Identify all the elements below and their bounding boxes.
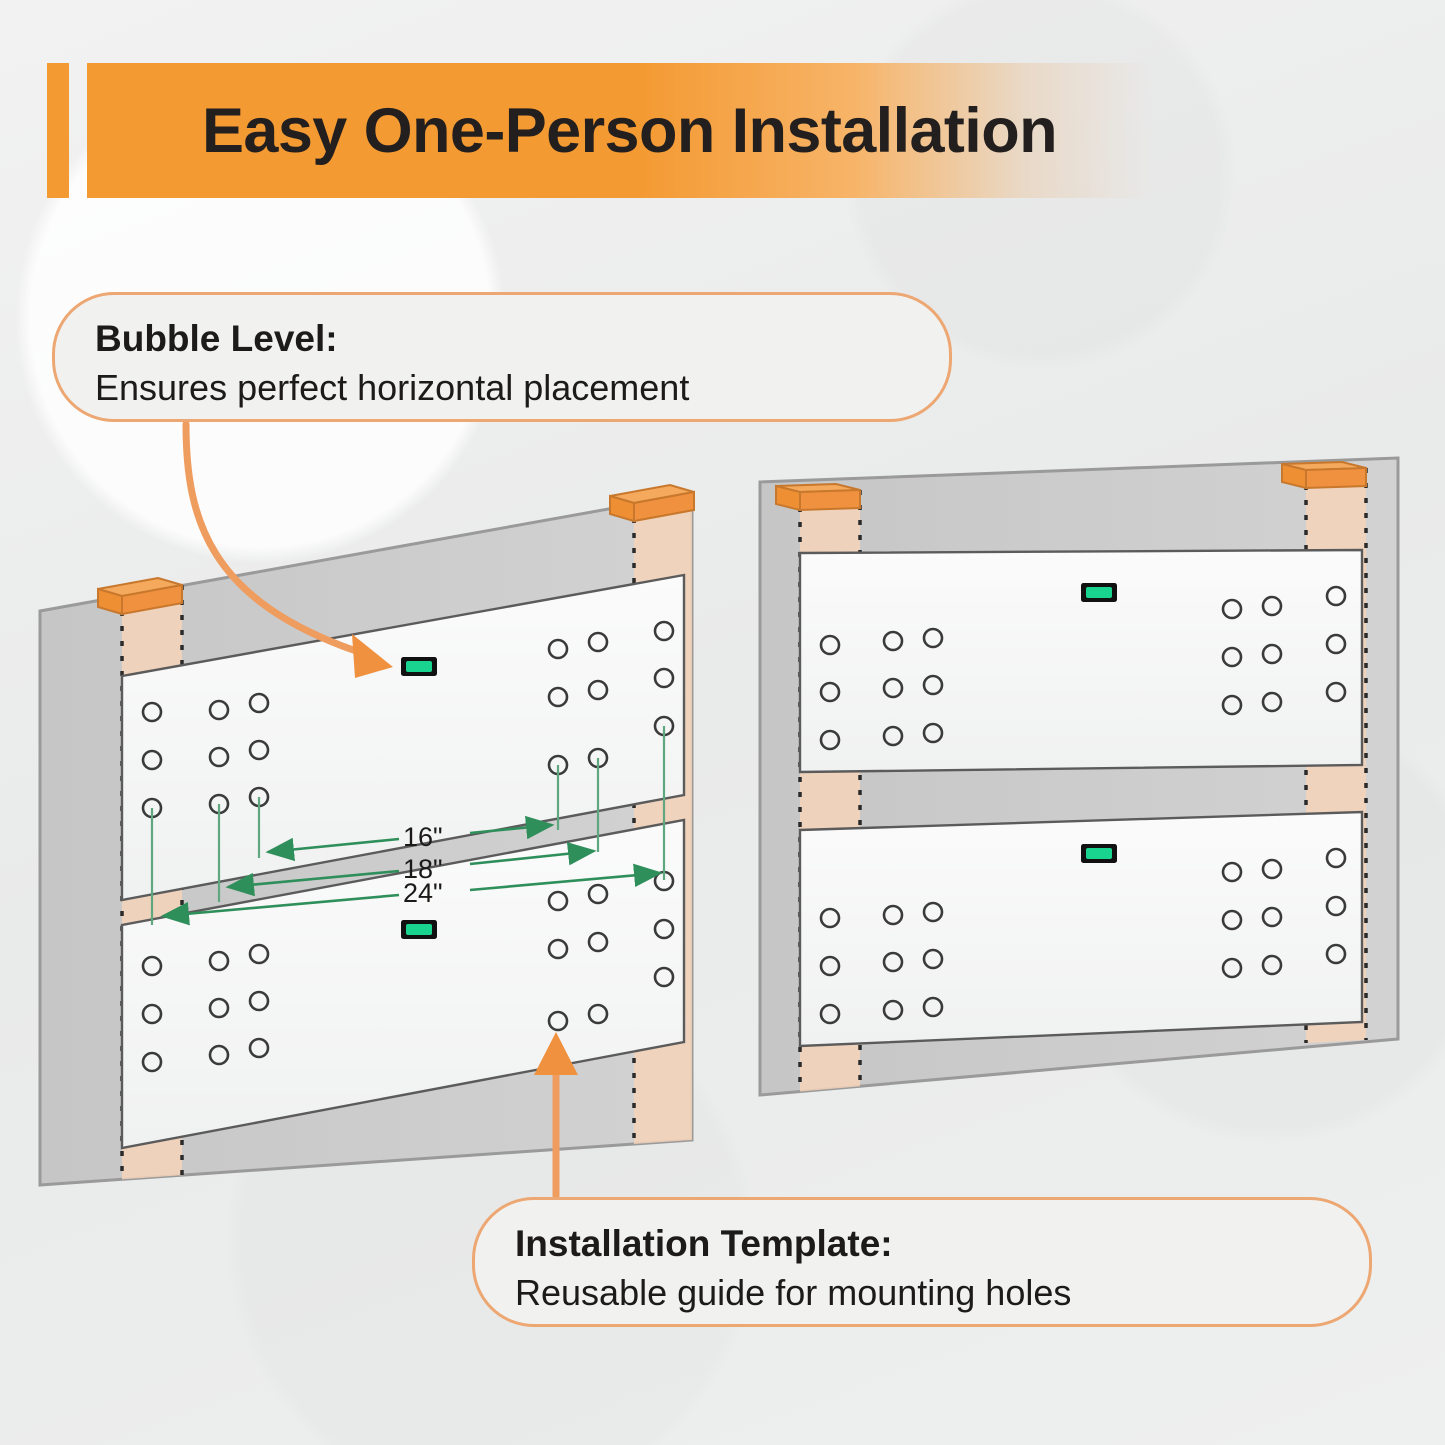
stud-cap-icon [776, 484, 860, 510]
callout-installation-template-title: Installation Template: [515, 1222, 1335, 1266]
callout-installation-template-description: Reusable guide for mounting holes [515, 1272, 1335, 1314]
bubble-level-icon [1081, 583, 1117, 602]
wall-section-right [760, 458, 1398, 1095]
bubble-level-icon [401, 657, 437, 676]
stud-cap-icon [1282, 462, 1366, 488]
measure-16-label: 16" [403, 822, 443, 852]
bubble-level-icon [1081, 844, 1117, 863]
callout-bubble-level: Bubble Level: Ensures perfect horizontal… [52, 292, 952, 422]
callout-bubble-level-description: Ensures perfect horizontal placement [95, 367, 915, 409]
wall-section-left [40, 485, 694, 1190]
callout-installation-template: Installation Template: Reusable guide fo… [472, 1197, 1372, 1327]
measure-24-label: 24" [403, 878, 443, 908]
bubble-level-icon [401, 920, 437, 939]
installation-template-panel[interactable] [800, 812, 1362, 1046]
installation-template-panel[interactable] [800, 550, 1362, 772]
callout-bubble-level-title: Bubble Level: [95, 317, 915, 361]
